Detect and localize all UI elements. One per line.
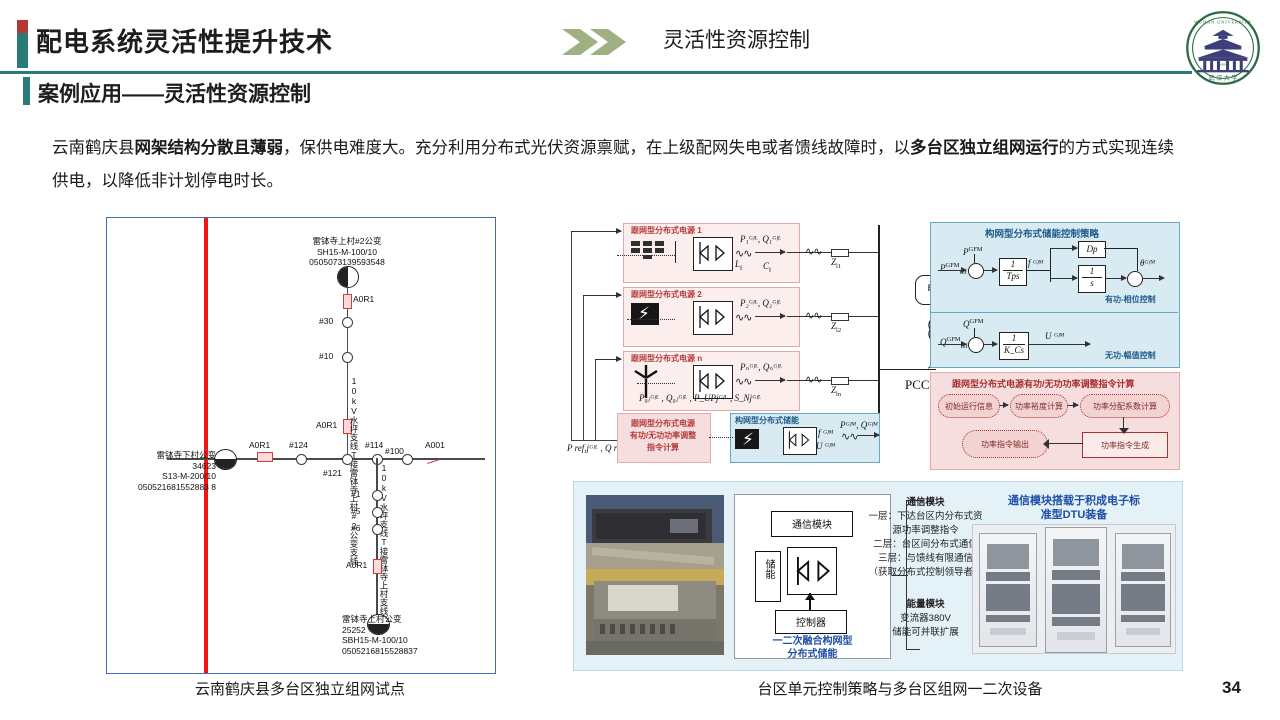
feeder-1-coil-icon: ∿∿	[805, 245, 821, 258]
ref-arrow-2	[583, 295, 621, 296]
feeder-boundary-red-line	[204, 218, 208, 673]
q-to-tf-arrow	[983, 344, 997, 345]
switch-label-a0r1-branch: A0R1	[346, 560, 367, 570]
int-num: 1	[1079, 266, 1105, 277]
node-label-5: #5	[351, 506, 360, 516]
flow-arrow-2	[1067, 405, 1078, 406]
slide-root: 配电系统灵活性提升技术 灵活性资源控制 WUHAN UNIVERSITY	[0, 0, 1280, 720]
dtu-cabinet-2	[1045, 527, 1107, 653]
switch-label-a0r1-top: A0R1	[353, 294, 374, 304]
gfl-meas-dotted-1	[617, 255, 675, 256]
feedback-bus-3	[595, 359, 596, 441]
gfm-filter-coil-icon: ∿∿	[841, 430, 857, 443]
dg-unit-n-title: 跟网型分布式电源 n	[631, 353, 702, 364]
filter-inductor-n-icon: ∿∿	[735, 375, 751, 388]
para-line1-bold: 网架结构分散且薄弱	[135, 139, 284, 157]
inverter-2-icon	[693, 301, 733, 335]
switch-a0r1-top	[343, 294, 352, 309]
node-121	[342, 454, 353, 465]
dc-cap-1	[675, 241, 676, 263]
dg-n-power-label: Pₙᴳᶠᴸ, Qₙᴳᶠᴸ	[740, 362, 782, 373]
dg-2-output-arrow	[755, 316, 785, 317]
body-paragraph: 云南鹤庆县网架结构分散且薄弱，保供电难度大。充分利用分布式光伏资源禀赋，在上级配…	[52, 132, 1182, 198]
gfm-to-gfl-dotted	[709, 437, 733, 438]
command-calc-title: 跟网型分布式电源有功/无功功率调整指令计算	[952, 377, 1135, 390]
switch-label-a0r1-bus: A0R1	[249, 440, 270, 450]
dg-1-Lf-label: Lf	[735, 259, 742, 272]
node-label-1: #1	[351, 489, 360, 499]
p-summing-junction	[968, 263, 984, 279]
theta-gfm-label: θᴳᶠᴹ	[1140, 258, 1155, 268]
feeder-1-impedance-label: Zl1	[831, 257, 841, 270]
node-5	[372, 507, 383, 518]
double-chevron-right-icon	[560, 27, 630, 57]
header-accent-teal-bar	[17, 33, 28, 68]
stage-command-output: 功率指令输出	[962, 430, 1048, 458]
p-ref-arrow	[938, 270, 966, 271]
f-to-droop-arrow	[1051, 248, 1077, 249]
node-label-30: #30	[319, 316, 333, 326]
pcc-tie-line	[878, 369, 936, 370]
controller-block: 控制器	[775, 610, 847, 634]
inverter-1-icon	[693, 237, 733, 271]
dtu-1-screen	[987, 544, 1030, 569]
node-label-10: #10	[319, 351, 333, 361]
dtu-3-screen	[1122, 544, 1163, 569]
dtu-title-line2: 准型DTU装备	[1041, 509, 1108, 521]
droop-out-line	[1104, 248, 1138, 249]
reactive-amplitude-control-note: 无功-幅值控制	[1105, 350, 1156, 361]
feeder-2-impedance-label: Zl2	[831, 321, 841, 334]
gfm-battery-icon	[735, 429, 759, 449]
feeder-n-impedance-box	[831, 377, 849, 385]
int-out-arrow	[1105, 278, 1126, 279]
node-label-114: #114	[365, 440, 383, 450]
single-line-diagram-figure: 雷钵寺上村#2公变 SH15-M-100/10 0505073139593548…	[106, 217, 496, 674]
dg-1-output-arrow	[755, 252, 785, 253]
feeder-2-coil-icon: ∿∿	[805, 309, 821, 322]
page-number: 34	[1222, 678, 1241, 698]
dtu-3-label	[1126, 628, 1161, 635]
dg-2-power-label: P₂ᴳᶠᴸ, Q₂ᴳᶠᴸ	[740, 298, 781, 308]
controller-link-arrow	[805, 593, 815, 600]
feedback-bus-2	[583, 295, 584, 441]
top-transformer-symbol	[337, 266, 359, 288]
header-accent-red-square	[17, 20, 28, 33]
dg-unit-1-title: 跟网型分布式电源 1	[631, 225, 702, 236]
dtu-2-row-c	[1052, 617, 1100, 626]
tf2-den: K_Cs	[1000, 345, 1028, 356]
node-30	[342, 317, 353, 328]
node-label-100: #100	[385, 446, 404, 456]
tf1-den: Tрs	[1000, 271, 1026, 282]
dtu-title-line1: 通信模块搭载于积成电子标	[1008, 495, 1140, 507]
flow-arrow-4	[1043, 439, 1049, 449]
equipment-panel: 通信模块 储能 控制器 一二次融合构网型 分布式储能 通信模块	[573, 481, 1183, 671]
header-subtitle: 灵活性资源控制	[663, 24, 810, 54]
p-meas-lead	[974, 254, 975, 263]
ref-arrow-1	[571, 231, 621, 232]
flow-arrow-3	[1119, 428, 1129, 434]
tp-s-transfer-function: 1 Tрs	[999, 258, 1027, 286]
flow-arrow-1	[999, 405, 1008, 406]
dtu-2-row-b	[1052, 584, 1100, 614]
kc-s-transfer-function: 1 K_Cs	[999, 332, 1029, 360]
u-out-arrow	[1028, 344, 1090, 345]
dtu-2-label	[1057, 632, 1095, 639]
active-phase-control-note: 有功-相位控制	[1105, 294, 1156, 305]
para-line2-bold: 多台区独立组网运行	[910, 139, 1059, 157]
left-transformer-symbol	[214, 449, 237, 470]
dtu-cabinet-1	[979, 533, 1037, 647]
integrator-block: 1 s	[1078, 265, 1106, 293]
filter-inductor-2-icon: ∿∿	[735, 311, 751, 324]
gfm-pq-signal: Pᴳᶠᴹ, Qᴳᶠᴹ	[840, 420, 878, 430]
top-transformer-label: 雷钵寺上村#2公变 SH15-M-100/10 0505073139593548	[267, 236, 427, 268]
flow-back-line	[1047, 443, 1083, 444]
switch-a0r1-branch	[373, 559, 382, 574]
gfm-u-signal: U ᴳᶠᴹ	[816, 441, 836, 451]
pcc-label: PCC	[905, 377, 930, 393]
svg-text:1893: 1893	[1220, 62, 1227, 66]
feeder-2-impedance-box	[831, 313, 849, 321]
dtu-title: 通信模块搭载于积成电子标 准型DTU装备	[974, 494, 1174, 522]
feeder-1-impedance-box	[831, 249, 849, 257]
theta-summing-junction	[1127, 271, 1143, 287]
node-label-121: #121	[323, 468, 342, 478]
dtu-2-screen	[1053, 539, 1099, 566]
node-10	[342, 352, 353, 363]
switch-a0r1-bus	[257, 452, 273, 462]
para-line1-post: ，保供电难度大。充分利用分布式光伏资源禀赋，在上级配网失电或者馈线故障时，以	[283, 139, 910, 157]
control-strategy-divider	[930, 312, 1178, 313]
f-line	[1026, 270, 1050, 271]
gfm-f-signal: f ᴳᶠᴹ	[818, 428, 834, 438]
dtu-3-row-b	[1121, 584, 1164, 611]
bottom-transformer-label: 雷钵寺上村公变 25252 SBH15-M-100/10 05052168155…	[342, 614, 492, 656]
gfl-meas-dotted-2	[627, 319, 675, 320]
stage-initial-info: 初始运行信息	[938, 394, 1000, 418]
node-6	[372, 524, 383, 535]
q-summing-junction	[968, 337, 984, 353]
p-to-tf-arrow	[983, 270, 997, 271]
stage-allocation-coeff: 功率分配系数计算	[1080, 394, 1170, 418]
section-title: 案例应用——灵活性资源控制	[38, 78, 311, 108]
tf1-num: 1	[1000, 259, 1026, 270]
section-accent-bar	[23, 77, 30, 105]
p-meas-label: PGFM	[963, 246, 983, 257]
wuhan-university-logo-icon: WUHAN UNIVERSITY 1893 武 汉 大 学	[1185, 10, 1261, 86]
left-figure-caption: 云南鹤庆县多台区独立组网试点	[106, 678, 494, 699]
q-meas-lead	[974, 328, 975, 337]
stage-power-margin: 功率裕度计算	[1010, 394, 1068, 418]
gfm-output-arrow	[857, 435, 879, 436]
gfm-control-strategy-title: 构网型分布式储能控制策略	[985, 226, 1099, 240]
left-transformer-label: 雷钵寺下村公变 34623 S13-M-200/10 0505216815528…	[112, 450, 216, 492]
controller-label: 控制器	[796, 618, 826, 629]
storage-caption-line2: 分布式储能	[788, 649, 838, 660]
dtu-1-row-c	[986, 615, 1031, 623]
comm-module-label: 通信模块	[792, 520, 832, 531]
theta-out-arrow	[1142, 278, 1164, 279]
page-title: 配电系统灵活性提升技术	[36, 22, 333, 59]
device-photo	[586, 495, 724, 655]
f-gfm-label: f ᴳᶠᴹ	[1028, 258, 1044, 268]
dg-1-Cf-label: Cf	[763, 261, 771, 274]
dtu-2-row-a	[1052, 570, 1100, 580]
gfl-meas-dotted-3	[637, 383, 675, 384]
dg-n-output-arrow	[755, 380, 785, 381]
dtu-1-row-a	[986, 572, 1031, 581]
dg-unit-2-title: 跟网型分布式电源 2	[631, 289, 702, 300]
switch-a001-symbol	[427, 459, 440, 464]
gfl-cmd-line-1: 跟网型分布式电源	[631, 419, 695, 428]
header-divider	[0, 71, 1192, 74]
battery-icon	[631, 303, 659, 325]
droop-down-line	[1137, 248, 1138, 271]
dtu-photo-area	[972, 524, 1176, 654]
storage-block: 储能	[755, 551, 781, 602]
droop-label: Dр	[1087, 244, 1098, 254]
gfl-cmd-line-2: 有功/无功功率调整	[630, 431, 696, 440]
feeder-line-label-2: 10kV水坪支线T接雷钵寺上村支线	[379, 463, 389, 615]
module-bracket-bottom	[906, 649, 920, 650]
feeder-line-label-1: 10kV水坪支线T接雷钵寺上村#2公变支线	[349, 376, 359, 565]
dtu-3-row-a	[1121, 572, 1164, 581]
f-to-int-arrow	[1051, 278, 1077, 279]
switch-label-a0r1-mid: A0R1	[316, 420, 337, 430]
node-1	[372, 490, 383, 501]
gfl-feedback-labels: P₀ⱼᴳᶠᴸ , Q₀ⱼᴳᶠᴸ , P_UPjᴳᶠᴸ , S_Njᴳᶠᴸ	[639, 393, 761, 404]
solar-panel-icon	[631, 239, 665, 261]
storage-label: 储能	[761, 559, 775, 579]
switch-label-a001: A001	[425, 440, 445, 450]
tf2-num: 1	[1000, 333, 1028, 344]
stage-command-generation: 功率指令生成	[1082, 432, 1168, 458]
gfl-cmd-line-3: 指令计算	[647, 443, 679, 452]
ref-arrow-3	[595, 359, 621, 360]
right-figure-caption: 台区单元控制策略与多台区组网一二次设备	[620, 678, 1180, 699]
converter-block	[787, 547, 837, 595]
droop-gain-block: Dр	[1078, 241, 1106, 258]
dtu-cabinet-3	[1115, 533, 1171, 647]
gfm-inverter-icon	[783, 427, 817, 455]
dtu-1-row-b	[986, 584, 1031, 611]
svg-text:WUHAN UNIVERSITY: WUHAN UNIVERSITY	[1194, 20, 1252, 25]
dtu-1-label	[990, 628, 1026, 635]
feeder-n-coil-icon: ∿∿	[805, 373, 821, 386]
branch-line-vertical	[376, 458, 378, 623]
feeder-n-impedance-label: Zln	[831, 385, 841, 398]
gfl-command-box-label: 跟网型分布式电源 有功/无功功率调整 指令计算	[621, 418, 705, 454]
q-ref-arrow	[938, 344, 966, 345]
u-gfm-label: U ᴳᶠᴹ	[1045, 331, 1065, 341]
node-label-124: #124	[289, 440, 308, 450]
gfm-storage-title: 构网型分布式储能	[735, 415, 799, 426]
feedback-bus-1	[571, 231, 572, 441]
f-split-line	[1050, 248, 1051, 282]
int-den: s	[1079, 278, 1105, 289]
dg-1-power-label: P₁ᴳᶠᴸ, Q₁ᴳᶠᴸ	[740, 234, 781, 244]
para-line1-pre: 云南鹤庆县	[52, 139, 135, 157]
node-124	[296, 454, 307, 465]
node-label-6: #6	[351, 523, 360, 533]
dtu-3-row-c	[1121, 615, 1164, 623]
